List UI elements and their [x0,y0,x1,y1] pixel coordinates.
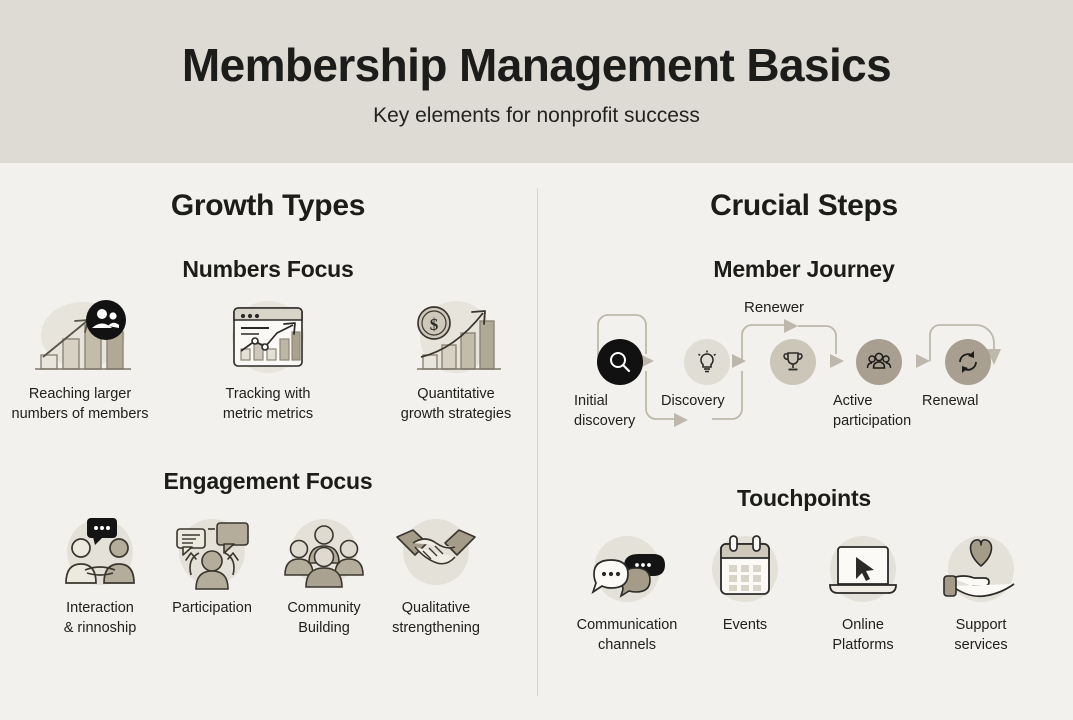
flow-annotation-renewer: Renewer [744,299,804,316]
section-heading-numbers-focus: Numbers Focus [0,256,536,283]
item-label: Quantitative growth strategies [401,385,511,424]
item-label: Communication channels [577,616,678,655]
item-label: Reaching larger numbers of members [12,385,149,424]
item-tracking-with-metrics[interactable]: Tracking with metric metrics [193,299,343,424]
search-icon [597,339,643,385]
item-online-platforms[interactable]: Online Platforms [807,530,919,655]
trophy-icon [770,339,816,385]
journey-step-discovery[interactable]: Discovery [661,339,753,412]
svg-text:$: $ [430,315,439,334]
laptop-cursor-icon [820,530,906,608]
item-label: Qualitative strengthening [392,599,480,638]
people-group-icon [856,339,902,385]
journey-step-renewal[interactable]: Renewal [922,339,1014,412]
left-column-title: Growth Types [0,189,536,223]
journey-step-label: Discovery [661,392,753,412]
engagement-focus-row: Interaction & rinnoship [0,513,536,638]
journey-step-initial-discovery[interactable]: Initial discovery [574,339,666,431]
journey-step-renewer[interactable] [747,339,839,392]
bar-chart-growth-people-icon [25,299,135,377]
item-quantitative-growth[interactable]: $ Quantitative growth strategies [381,299,531,424]
content-area: Growth Types Numbers Focus [0,163,1073,720]
section-heading-engagement-focus: Engagement Focus [0,468,536,495]
dollar-growth-chart-icon: $ [401,299,511,377]
journey-step-label: Renewal [922,392,1014,412]
lightbulb-icon [684,339,730,385]
page-subtitle: Key elements for nonprofit success [373,104,700,128]
item-community-building[interactable]: Community Building [269,513,379,638]
chat-bubbles-icon [584,530,670,608]
journey-step-active-participation[interactable]: Active participation [833,339,925,431]
item-label: Events [723,616,767,636]
touchpoints-row: Communication channels [536,530,1072,655]
right-column-title: Crucial Steps [536,189,1072,223]
item-label: Interaction & rinnoship [64,599,137,638]
people-group-icon [281,513,367,591]
handshake-icon [393,513,479,591]
calendar-icon [702,530,788,608]
item-label: Community Building [287,599,360,638]
member-journey-flow: Renewer Initial discovery [536,297,1072,447]
page-header: Membership Management Basics Key element… [0,0,1073,163]
item-reaching-larger-numbers[interactable]: Reaching larger numbers of members [5,299,155,424]
item-participation[interactable]: Participation [157,513,267,619]
person-speech-bubbles-icon [169,513,255,591]
numbers-focus-row: Reaching larger numbers of members [0,299,536,424]
item-label: Online Platforms [832,616,893,655]
refresh-cycle-icon [945,339,991,385]
item-interaction[interactable]: Interaction & rinnoship [45,513,155,638]
left-column: Growth Types Numbers Focus [0,163,536,720]
page-title: Membership Management Basics [182,41,891,89]
dashboard-analytics-icon [213,299,323,377]
right-column: Crucial Steps Member Journey [536,163,1072,720]
item-label: Support services [954,616,1007,655]
item-label: Participation [172,599,252,619]
item-events[interactable]: Events [689,530,801,636]
item-communication-channels[interactable]: Communication channels [571,530,683,655]
hand-heart-icon [938,530,1024,608]
section-heading-member-journey: Member Journey [536,256,1072,283]
journey-step-label: Active participation [833,392,925,431]
journey-step-label: Initial discovery [574,392,666,431]
item-label: Tracking with metric metrics [223,385,313,424]
handshake-conversation-icon [57,513,143,591]
section-heading-touchpoints: Touchpoints [536,485,1072,512]
item-support-services[interactable]: Support services [925,530,1037,655]
item-qualitative-strengthening[interactable]: Qualitative strengthening [381,513,491,638]
